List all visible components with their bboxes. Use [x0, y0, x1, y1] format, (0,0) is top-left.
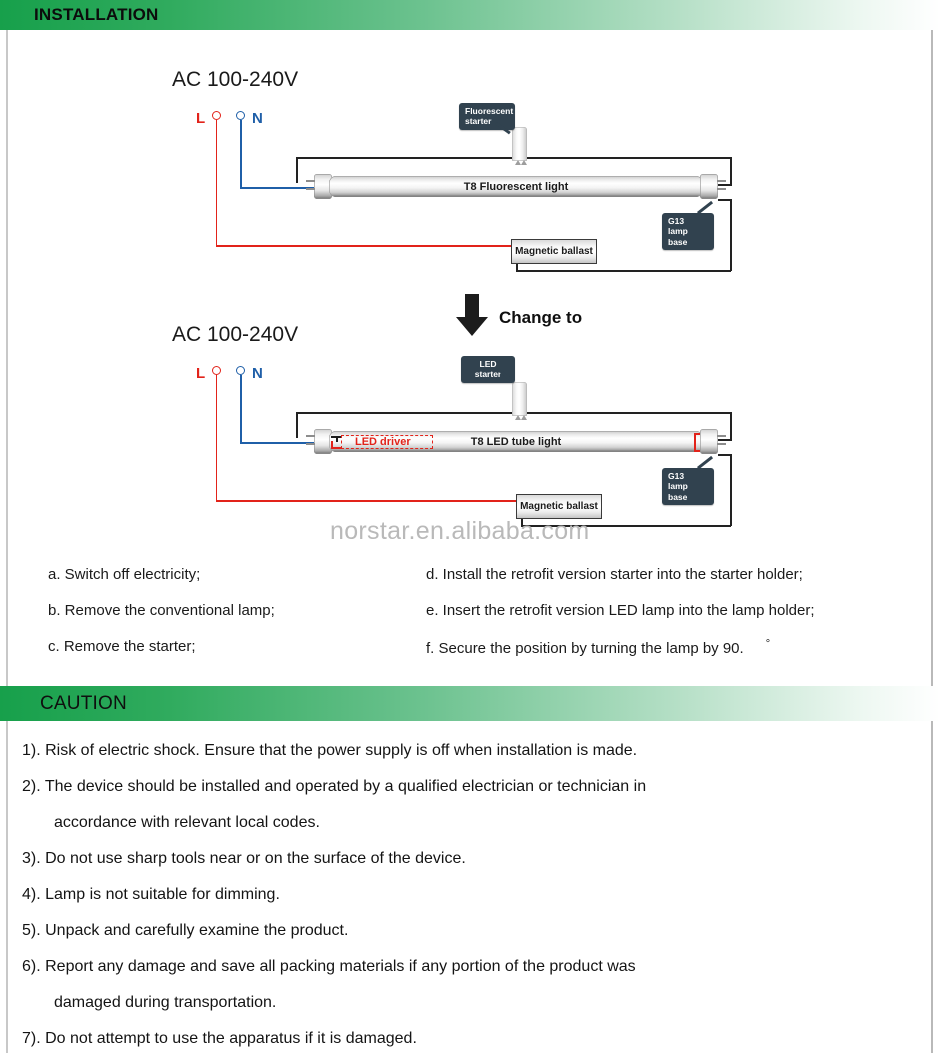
caution-item: accordance with relevant local codes. [22, 814, 922, 832]
led-return-right-leg [730, 454, 732, 526]
product-spec-page: INSTALLATION AC 100-240V L N Fluorescen [0, 0, 940, 1053]
led-neutral-terminal-label: N [252, 365, 263, 382]
led-return-span [521, 525, 731, 527]
fluorescent-return-right-leg [730, 199, 732, 271]
fluorescent-neutral-terminal-ring [236, 111, 245, 120]
step-item-with-degree: f. Secure the position by turning the la… [426, 638, 815, 657]
fluorescent-tube-body: T8 Fluorescent light [329, 176, 703, 197]
caution-item: 3). Do not use sharp tools near or on th… [22, 850, 922, 868]
fluorescent-wiring-diagram: AC 100-240V L N Fluorescent starter [0, 40, 940, 290]
caution-section-header: CAUTION [0, 686, 940, 721]
led-pin-left-upper [306, 435, 315, 437]
fluorescent-top-loop-right-stub [718, 184, 732, 186]
installation-title: INSTALLATION [0, 5, 159, 25]
led-top-loop-left-leg [296, 412, 298, 438]
fluorescent-tube-label: T8 Fluorescent light [329, 181, 703, 193]
step-item: d. Install the retrofit version starter … [426, 566, 815, 583]
led-voltage-label: AC 100-240V [172, 323, 298, 347]
fluorescent-pin-right-lower [717, 188, 726, 190]
fluorescent-ballast-label: Magnetic ballast [515, 246, 593, 257]
step-item-text: f. Secure the position by turning the la… [426, 640, 744, 657]
caution-title: CAUTION [0, 693, 127, 715]
fluorescent-lamp-base-callout: G13 lamp base [662, 213, 714, 250]
fluorescent-neutral-wire-vertical [240, 120, 242, 188]
led-endcap-right [700, 429, 718, 454]
fluorescent-starter-body [512, 127, 527, 161]
led-starter-pin-right [521, 415, 527, 420]
fluorescent-pin-left-upper [306, 180, 315, 182]
fluorescent-starter-pin-right [521, 160, 527, 165]
led-ballast-label: Magnetic ballast [520, 501, 598, 512]
caution-item: 1). Risk of electric shock. Ensure that … [22, 742, 922, 760]
led-right-return-marker-vertical [694, 433, 696, 451]
page-border-right-lower [931, 721, 933, 1053]
fluorescent-starter-callout: Fluorescent starter [459, 103, 515, 130]
led-pin-left-lower [306, 443, 315, 445]
step-item: a. Switch off electricity; [48, 566, 275, 583]
led-pin-right-lower [717, 443, 726, 445]
led-live-terminal-label: L [196, 365, 205, 382]
fluorescent-endcap-right [700, 174, 718, 199]
step-item: e. Insert the retrofit version LED lamp … [426, 602, 815, 619]
led-live-wire-vertical [216, 375, 218, 501]
caution-item: 7). Do not attempt to use the apparatus … [22, 1030, 922, 1048]
led-driver-label: LED driver [355, 436, 411, 448]
led-neutral-terminal-ring [236, 366, 245, 375]
caution-item: 6). Report any damage and save all packi… [22, 958, 922, 976]
fluorescent-pin-left-lower [306, 188, 315, 190]
caution-item: 5). Unpack and carefully examine the pro… [22, 922, 922, 940]
led-live-wire-horizontal [216, 500, 520, 502]
fluorescent-live-terminal-ring [212, 111, 221, 120]
led-live-terminal-ring [212, 366, 221, 375]
led-driver-lead-mid [336, 436, 338, 442]
led-driver-lead-left [331, 441, 333, 448]
led-pin-right-upper [717, 435, 726, 437]
degree-symbol: ° [766, 638, 770, 650]
led-lamp-base-callout: G13 lamp base [662, 468, 714, 505]
led-neutral-wire-vertical [240, 375, 242, 443]
fluorescent-pin-right-upper [717, 180, 726, 182]
fluorescent-return-span [516, 270, 731, 272]
led-wiring-diagram: AC 100-240V L N LED starter T8 LED tube … [0, 295, 940, 545]
fluorescent-neutral-terminal-label: N [252, 110, 263, 127]
page-border-left-lower [6, 721, 8, 1053]
caution-item: 4). Lamp is not suitable for dimming. [22, 886, 922, 904]
fluorescent-magnetic-ballast: Magnetic ballast [511, 239, 597, 264]
led-starter-body [512, 382, 527, 416]
fluorescent-top-loop-right-leg [730, 157, 732, 185]
caution-item: damaged during transportation. [22, 994, 922, 1012]
fluorescent-live-terminal-label: L [196, 110, 205, 127]
fluorescent-live-wire-vertical [216, 120, 218, 246]
caution-item: 2). The device should be installed and o… [22, 778, 922, 796]
led-magnetic-ballast: Magnetic ballast [516, 494, 602, 519]
caution-list: 1). Risk of electric shock. Ensure that … [22, 742, 922, 1053]
step-item: c. Remove the starter; [48, 638, 275, 655]
step-item: b. Remove the conventional lamp; [48, 602, 275, 619]
fluorescent-top-loop-left-leg [296, 157, 298, 183]
fluorescent-voltage-label: AC 100-240V [172, 68, 298, 92]
led-top-loop-right-stub [718, 439, 732, 441]
steps-column-left: a. Switch off electricity; b. Remove the… [48, 566, 275, 674]
led-top-loop-right-leg [730, 412, 732, 440]
fluorescent-live-wire-horizontal [216, 245, 515, 247]
steps-column-right: d. Install the retrofit version starter … [426, 566, 815, 676]
installation-section-header: INSTALLATION [0, 0, 940, 30]
